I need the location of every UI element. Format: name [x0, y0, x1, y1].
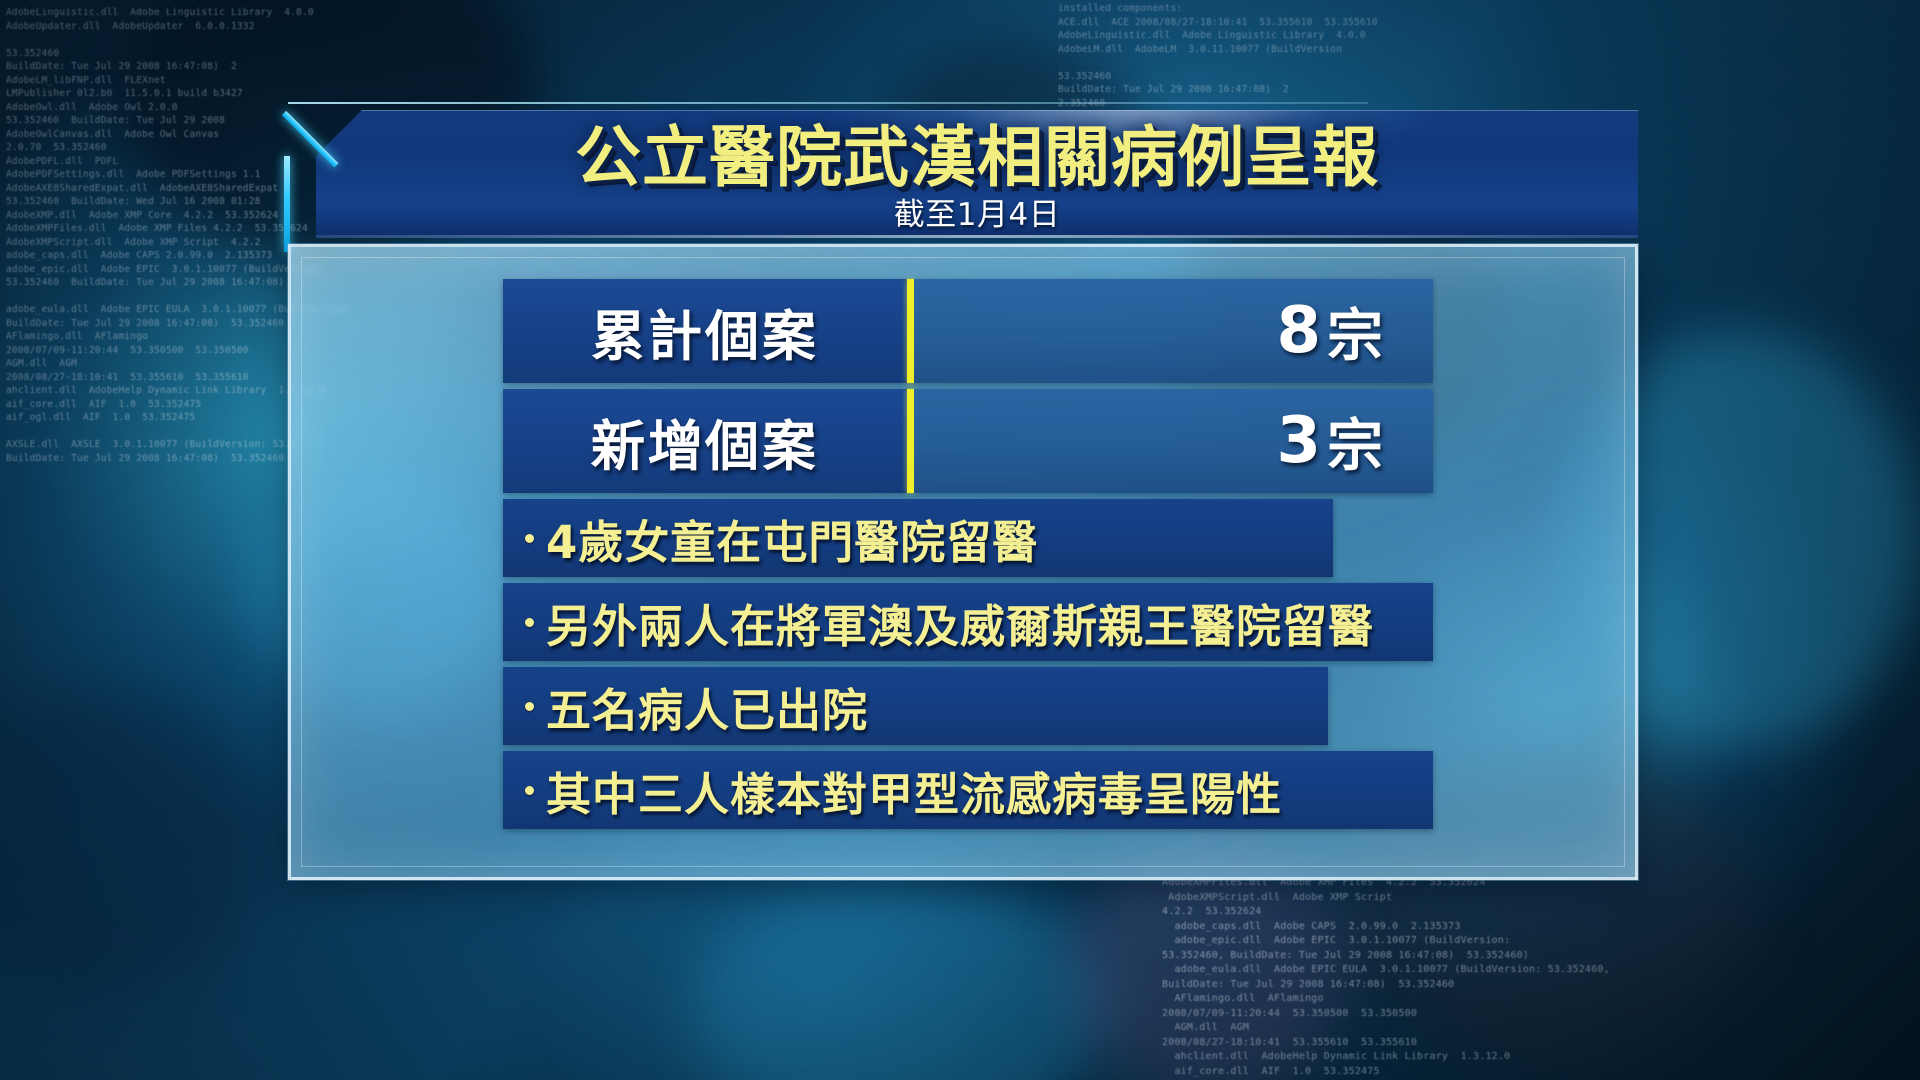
stat-label-text: 新增個案	[591, 402, 819, 481]
page-subtitle: 截至1月4日	[316, 198, 1638, 232]
infographic-panel: 公立醫院武漢相關病例呈報 截至1月4日 累計個案 8 宗	[288, 110, 1638, 880]
bullet-dot-icon	[525, 702, 534, 711]
bullet-dot-icon	[525, 786, 534, 795]
news-graphic-stage: AdobeLinguistic.dll Adobe Linguistic Lib…	[0, 0, 1920, 1080]
stat-unit: 宗	[1327, 291, 1385, 372]
stat-value-cell: 3 宗	[914, 389, 1433, 493]
stat-label-cell: 累計個案	[503, 279, 907, 383]
stat-unit: 宗	[1327, 401, 1385, 482]
yellow-divider	[907, 389, 914, 493]
list-item: 其中三人樣本對甲型流感病毒呈陽性	[503, 751, 1433, 829]
bullet-dot-icon	[525, 534, 534, 543]
yellow-divider	[907, 279, 914, 383]
stat-value-cell: 8 宗	[914, 279, 1433, 383]
list-item: 另外兩人在將軍澳及威爾斯親王醫院留醫	[503, 583, 1433, 661]
list-item-label: 其中三人樣本對甲型流感病毒呈陽性	[546, 758, 1282, 823]
content-rows: 累計個案 8 宗 新增個案 3 宗	[503, 279, 1433, 829]
page-title: 公立醫院武漢相關病例呈報	[316, 122, 1638, 194]
list-item-label: 另外兩人在將軍澳及威爾斯親王醫院留醫	[546, 590, 1374, 655]
bullet-dot-icon	[525, 618, 534, 627]
list-item: 五名病人已出院	[503, 667, 1328, 745]
stat-number: 8	[1276, 294, 1323, 368]
stat-label-cell: 新增個案	[503, 389, 907, 493]
list-item: 4歲女童在屯門醫院留醫	[503, 499, 1333, 577]
content-glass-panel: 累計個案 8 宗 新增個案 3 宗	[288, 244, 1638, 880]
list-item-label: 4歲女童在屯門醫院留醫	[546, 506, 1038, 571]
stat-label-text: 累計個案	[591, 292, 819, 371]
title-band: 公立醫院武漢相關病例呈報 截至1月4日	[316, 110, 1638, 238]
list-item-label: 五名病人已出院	[546, 674, 868, 739]
stat-number: 3	[1276, 404, 1323, 478]
table-row: 累計個案 8 宗	[503, 279, 1433, 383]
table-row: 新增個案 3 宗	[503, 389, 1433, 493]
